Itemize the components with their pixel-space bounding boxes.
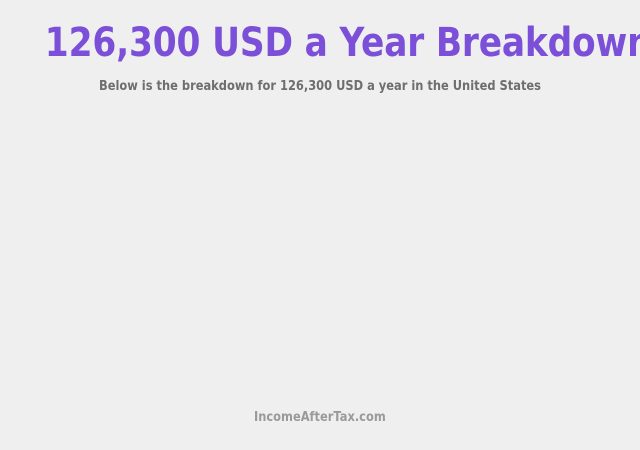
page-title: 126,300 USD a Year Breakdown bbox=[45, 20, 595, 66]
breakdown-page: 126,300 USD a Year Breakdown Below is th… bbox=[0, 0, 640, 450]
chart-plot-empty bbox=[0, 118, 640, 408]
site-watermark: IncomeAfterTax.com bbox=[254, 411, 386, 425]
page-header: 126,300 USD a Year Breakdown Below is th… bbox=[0, 0, 640, 95]
page-footer: IncomeAfterTax.com bbox=[0, 408, 640, 450]
page-subtitle: Below is the breakdown for 126,300 USD a… bbox=[38, 66, 601, 95]
chart-area bbox=[0, 118, 640, 408]
